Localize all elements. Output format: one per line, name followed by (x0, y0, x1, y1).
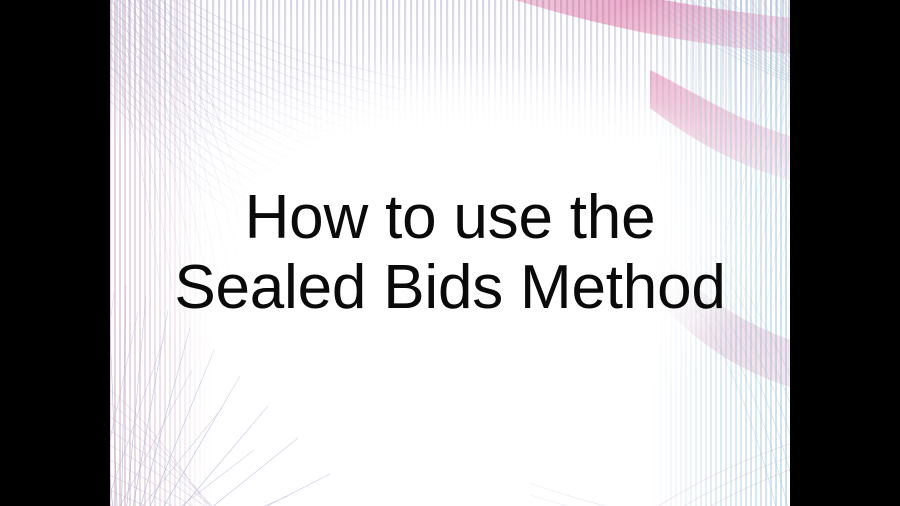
slide-title-line-2: Sealed Bids Method (174, 254, 725, 322)
presentation-slide: How to use the Sealed Bids Method (110, 0, 790, 506)
video-frame: How to use the Sealed Bids Method (0, 0, 900, 506)
letterbox-bar-right (790, 0, 900, 506)
slide-title: How to use the Sealed Bids Method (110, 0, 790, 506)
slide-title-line-1: How to use the (245, 184, 656, 252)
letterbox-bar-left (0, 0, 110, 506)
